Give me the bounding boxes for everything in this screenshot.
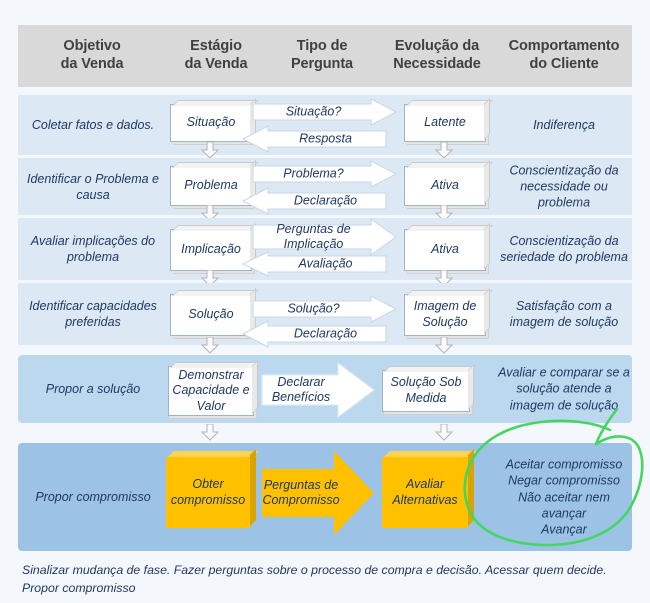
row-behavior: Conscientização da necessidade ou proble… [496,162,632,211]
stage-box-problema: Problema [170,166,252,206]
need-box-imagem-de-solucao: Imagem de Solução [404,294,486,336]
need-box-avaliar-alternativas: Avaliar Alternativas [382,457,468,528]
row-objective: Propor compromisso [18,489,168,505]
down-arrow-icon [201,142,219,159]
stage-box-label: Obter compromisso [166,477,250,508]
behavior-line: Não aceitar nem [496,489,632,505]
row-objective: Coletar fatos e dados. [18,117,168,133]
need-box-label: Imagem de Solução [405,299,485,330]
need-box-ativa-1: Ativa [404,166,486,206]
arrow-left-shape [243,126,386,152]
stage-box-label: Implicação [181,242,241,258]
header-cell-evolucao-necessidade: Evolução da Necessidade [378,38,496,73]
need-box-label: Avaliar Alternativas [382,477,468,508]
footer-line-2: Propor compromisso [22,580,632,598]
row-behavior: Indiferença [496,117,632,133]
need-box-label: Solução Sob Medida [383,375,469,406]
stage-box-label: Problema [184,178,238,194]
down-arrow-icon [435,424,453,441]
row-behavior: Avaliar e comparar se a solução atende a… [496,365,632,414]
stage-box-situacao: Situação [170,104,252,142]
stage-box-label: Situação [187,115,236,131]
process-diagram: Objetivo da Venda Estágio da Venda Tipo … [0,0,650,603]
header-line: Pergunta [266,56,378,74]
need-box-label: Ativa [431,242,459,258]
down-arrow-icon [435,337,453,354]
behavior-line: Aceitar compromisso [496,456,632,472]
question-arrow-back-solucao: Declaração [243,321,386,347]
question-arrow-back-implicacao: Avaliação [243,252,386,276]
header-line: do Cliente [496,56,632,74]
stage-box-solucao: Solução [170,294,252,336]
header-line: Necessidade [378,56,496,74]
stage-box-label: Solução [188,307,233,323]
header-line: Objetivo [18,38,166,56]
stage-box-label: Demonstrar Capacidade e Valor [169,368,253,415]
need-box-solucao-sob-medida: Solução Sob Medida [382,370,470,412]
header-line: Comportamento [496,38,632,56]
need-box-label: Latente [424,115,466,131]
down-arrow-icon [201,337,219,354]
header-cell-tipo-pergunta: Tipo de Pergunta [266,38,378,73]
row-behavior: Satisfação com a imagem de solução [496,298,632,331]
question-arrow-declarar-beneficios: Declarar Benefícios [262,363,374,417]
footer-note: Sinalizar mudança de fase. Fazer pergunt… [22,562,632,598]
need-box-label: Ativa [431,178,459,194]
footer-line-1: Sinalizar mudança de fase. Fazer pergunt… [22,562,632,580]
question-arrow-forward-solucao: Solução? [253,296,396,322]
header-line: Evolução da [378,38,496,56]
header-cell-estagio: Estágio da Venda [166,38,266,73]
stage-box-demonstrar-capacidade: Demonstrar Capacidade e Valor [168,366,254,416]
behavior-line: Avançar [496,521,632,537]
row-objective: Identificar o Problema e causa [18,171,168,203]
table-header-row: Objetivo da Venda Estágio da Venda Tipo … [18,25,632,87]
question-arrow-perguntas-de-compromisso: Perguntas de Compromisso [262,451,374,535]
question-arrow-back-problema: Declaração [243,188,386,214]
down-arrow-icon [201,424,219,441]
header-line: Tipo de [266,38,378,56]
row-behavior: Conscientização da seriedade do problema [496,233,632,266]
header-line: da Venda [18,56,166,74]
header-line: da Venda [166,56,266,74]
header-cell-comportamento-cliente: Comportamento do Cliente [496,38,632,73]
row-behavior: Aceitar compromisso Negar compromisso Nã… [496,456,632,537]
arrow-right-shape [253,99,396,125]
behavior-line: avançar [496,505,632,521]
question-arrow-back-situacao: Resposta [243,126,386,152]
header-line: Estágio [166,38,266,56]
stage-box-implicacao: Implicação [170,229,252,271]
stage-box-obter-compromisso: Obter compromisso [166,457,250,528]
header-cell-objetivo: Objetivo da Venda [18,38,166,73]
row-objective: Identificar capacidades preferidas [18,298,168,330]
question-arrow-forward-situacao: Situação? [253,99,396,125]
row-objective: Avaliar implicações do problema [18,233,168,265]
behavior-line: Negar compromisso [496,473,632,489]
question-arrow-forward-implicacao: Perguntas de Implicação [253,219,396,255]
row-objective: Propor a solução [18,381,168,397]
question-arrow-forward-problema: Problema? [253,161,396,187]
need-box-latente: Latente [404,104,486,142]
down-arrow-icon [435,142,453,159]
need-box-ativa-2: Ativa [404,229,486,271]
